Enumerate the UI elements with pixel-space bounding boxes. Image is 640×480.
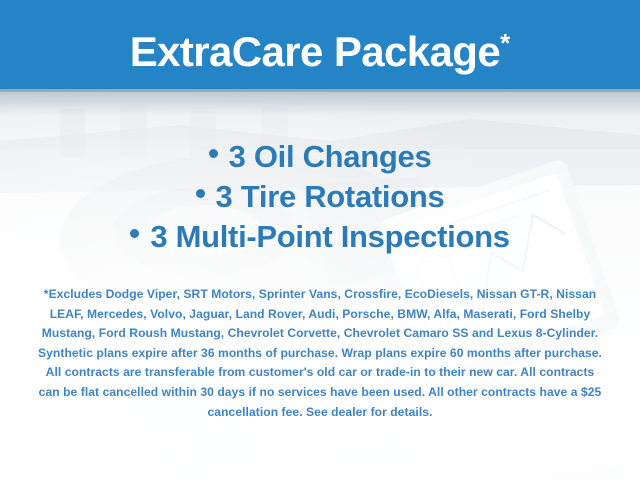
list-item: 3 Multi-Point Inspections	[0, 217, 640, 257]
benefit-label: 3 Multi-Point Inspections	[150, 219, 509, 254]
extracare-package-card: ExtraCare Package* 3 Oil Changes 3 Tire …	[0, 0, 640, 480]
benefit-label: 3 Oil Changes	[229, 139, 432, 174]
list-item: 3 Oil Changes	[0, 137, 640, 177]
page-title-asterisk: *	[500, 28, 510, 58]
card-content: 3 Oil Changes 3 Tire Rotations 3 Multi-P…	[0, 89, 640, 480]
header-band: ExtraCare Package*	[0, 0, 640, 89]
list-item: 3 Tire Rotations	[0, 177, 640, 217]
page-title-text: ExtraCare Package	[130, 28, 500, 75]
bullet-icon	[196, 189, 205, 198]
bullet-icon	[130, 229, 139, 238]
disclaimer-text: *Excludes Dodge Viper, SRT Motors, Sprin…	[36, 285, 604, 422]
benefits-list: 3 Oil Changes 3 Tire Rotations 3 Multi-P…	[0, 137, 640, 257]
bullet-icon	[209, 149, 218, 158]
page-title: ExtraCare Package*	[0, 15, 640, 80]
benefit-label: 3 Tire Rotations	[216, 179, 445, 214]
